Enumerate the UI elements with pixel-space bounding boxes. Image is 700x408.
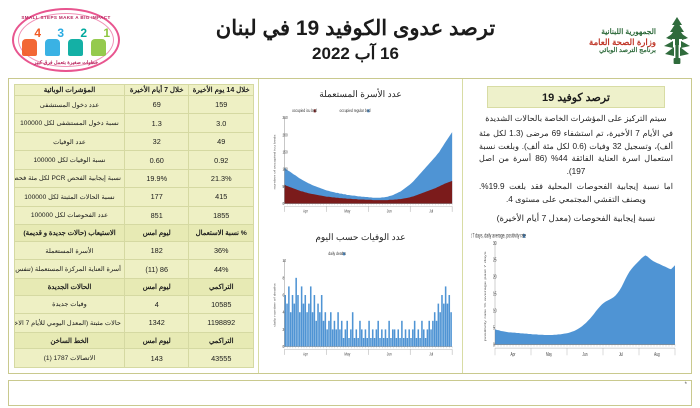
- cell-value-today: 86 (11): [124, 260, 189, 278]
- section-col-right: التراكمي: [189, 332, 254, 349]
- x-month-label: Jul: [429, 352, 433, 357]
- cell-indicator: حالات مثبتة (المعدل اليومي للأيام 7 الاخ…: [15, 314, 125, 332]
- table-row: 44%86 (11)أسرة العناية المركزة المستعملة…: [15, 260, 254, 278]
- positivity-chart-title: نسبة إيجابية الفحوصات (معدل 7 أيام الأخي…: [469, 213, 683, 224]
- x-month-label: Apr: [303, 209, 308, 214]
- deaths-bar: [335, 329, 337, 346]
- section-col-today: ليوم امس: [124, 225, 189, 242]
- y-tick-label: 6: [283, 293, 285, 298]
- deaths-bar: [427, 329, 429, 346]
- cell-value-right: 36%: [189, 241, 254, 259]
- deaths-bar: [399, 338, 401, 347]
- title-block: ترصد عدوى الكوفيد 19 في لبنان 16 آب 2022: [122, 16, 589, 64]
- deaths-bar: [292, 295, 294, 347]
- deaths-bar: [317, 304, 319, 347]
- campaign-slogan-ar: خطوات صغيرة بتعمل فرق كبير: [10, 60, 122, 66]
- y-tick-label: 25: [493, 257, 497, 263]
- deaths-bar: [430, 329, 432, 346]
- cell-indicator: عدد الفحوصات لكل 100000: [15, 206, 125, 224]
- summary-paragraph-1: سيتم التركيز على المؤشرات الخاصة بالحالا…: [469, 113, 683, 125]
- beds-chart: 050100150200250number of occupied icu be…: [261, 100, 460, 226]
- deaths-bar: [381, 329, 383, 346]
- cell-indicator: نسبة الحالات المثبتة لكل 100000: [15, 188, 125, 206]
- y-tick-label: 150: [283, 150, 288, 155]
- section-title: الخط الساخن: [15, 332, 125, 349]
- deaths-bar: [450, 312, 452, 346]
- table-row: 4932عدد الوفيات: [15, 132, 254, 150]
- lebanon-cedar-icon: [660, 14, 694, 66]
- deaths-bar: [377, 321, 379, 347]
- summary-paragraph-2: في الأيام 7 الأخيرة، تم استشفاء 69 مرضى …: [469, 128, 683, 178]
- deaths-bar: [441, 295, 443, 347]
- table-row: 36%182الأسرة المستعملة: [15, 241, 254, 259]
- x-month-label: Aug: [654, 351, 660, 357]
- cell-7days: 19.9%: [124, 169, 189, 187]
- legend-label: occupied regular bed: [340, 107, 371, 113]
- deaths-bar: [410, 338, 412, 347]
- deaths-bar: [326, 329, 328, 346]
- cell-14days: 415: [189, 188, 254, 206]
- deaths-bar: [397, 329, 399, 346]
- deaths-bar: [359, 321, 361, 347]
- deaths-bar: [390, 338, 392, 347]
- campaign-logo: SMALL STEPS MAKE A BIG IMPACT 1 2 3 4 خط…: [10, 4, 122, 76]
- table-row: 1855851عدد الفحوصات لكل 100000: [15, 206, 254, 224]
- cell-7days: 851: [124, 206, 189, 224]
- deaths-bar: [303, 304, 305, 347]
- deaths-bar: [366, 338, 368, 347]
- section-title: الحالات الجديدة: [15, 278, 125, 295]
- x-month-label: Jun: [582, 351, 587, 357]
- cell-value-right: 44%: [189, 260, 254, 278]
- deaths-bar: [376, 329, 378, 346]
- deaths-bar: [392, 329, 394, 346]
- y-tick-label: 15: [493, 291, 497, 297]
- section-title: الاستيعاب (حالات جديدة و قديمة): [15, 225, 125, 242]
- y-axis-title: daily number of deaths: [273, 283, 276, 327]
- deaths-bar: [306, 312, 308, 346]
- ministry-branding: الجمهورية اللبنانية وزارة الصحة العامة ب…: [589, 14, 694, 66]
- deaths-bar: [443, 304, 445, 347]
- table-row: 21.3%19.9%نسبة إيجابية الفحص PCR لكل مئة…: [15, 169, 254, 187]
- cell-value-today: 182: [124, 241, 189, 259]
- cell-value-right: 10585: [189, 295, 254, 313]
- cell-7days: 32: [124, 132, 189, 150]
- deaths-bar: [419, 338, 421, 347]
- deaths-bar: [445, 286, 447, 346]
- deaths-bar: [312, 312, 314, 346]
- deaths-bar: [374, 338, 376, 347]
- campaign-step: 1: [90, 28, 111, 56]
- deaths-bar: [405, 329, 407, 346]
- ministry-name: وزارة الصحة العامة: [589, 37, 656, 47]
- section-col-right: التراكمي: [189, 278, 254, 295]
- y-tick-label: 8: [283, 276, 285, 281]
- campaign-step-number: 3: [57, 27, 64, 39]
- table-section-header: % نسبة الاستعمالليوم امسالاستيعاب (حالات…: [15, 225, 254, 242]
- y-tick-label: 200: [283, 133, 288, 138]
- campaign-step-icon: [68, 39, 83, 56]
- cell-indicator: أسرة العناية المركزة المستعملة (تنفس اصط…: [15, 260, 125, 278]
- positivity-chart: 051015202530positivity rate % average pa…: [469, 225, 683, 370]
- deaths-bar: [323, 321, 325, 347]
- deaths-bar: [299, 312, 301, 346]
- x-month-label: Apr: [303, 352, 308, 357]
- table-row: 15969عدد دخول المستشفى: [15, 96, 254, 114]
- deaths-bar: [414, 321, 416, 347]
- deaths-bar: [438, 304, 440, 347]
- deaths-bar: [290, 312, 292, 346]
- beds-chart-title: عدد الأسرة المستعملة: [261, 89, 460, 100]
- cell-7days: 1.3: [124, 114, 189, 132]
- y-tick-label: 2: [283, 327, 285, 332]
- cell-value-right: 43555: [189, 349, 254, 368]
- deaths-bar: [428, 321, 430, 347]
- deaths-chart: 0246810daily number of deathsAprMayJunJu…: [261, 243, 460, 369]
- deaths-bar: [310, 286, 312, 346]
- deaths-bar: [356, 329, 358, 346]
- deaths-bar: [383, 338, 385, 347]
- deaths-bar: [434, 312, 436, 346]
- x-month-label: May: [546, 351, 553, 357]
- deaths-bar: [325, 312, 327, 346]
- deaths-bar: [341, 321, 343, 347]
- deaths-bar: [332, 329, 334, 346]
- cell-indicator: نسبة الوفيات لكل 100000: [15, 151, 125, 169]
- legend-label: daily deaths: [328, 250, 346, 256]
- cell-indicator: الاتصالات 1787 (1): [15, 349, 125, 368]
- deaths-bar: [388, 321, 390, 347]
- cell-indicator: نسبة دخول المستشفى لكل 100000: [15, 114, 125, 132]
- campaign-step-number: 4: [34, 27, 41, 39]
- x-month-label: Apr: [511, 351, 516, 357]
- deaths-bar: [368, 321, 370, 347]
- table-row: 105854وفيات جديدة: [15, 295, 254, 313]
- table-row: 0.920.60نسبة الوفيات لكل 100000: [15, 151, 254, 169]
- y-tick-label: 50: [283, 184, 286, 189]
- deaths-bar: [449, 295, 451, 347]
- x-month-label: Jul: [429, 209, 433, 214]
- deaths-bar: [361, 329, 363, 346]
- section-col-today: ليوم امس: [124, 332, 189, 349]
- table-row: 11988921342حالات مثبتة (المعدل اليومي لل…: [15, 314, 254, 332]
- deaths-bar: [432, 321, 434, 347]
- table-header-row: خلال 14 يوم الأخيرة خلال 7 أيام الأخيرة …: [15, 85, 254, 96]
- deaths-bar: [284, 295, 286, 347]
- footer-strip: *: [8, 380, 692, 406]
- deaths-bar: [301, 286, 303, 346]
- deaths-bar: [423, 329, 425, 346]
- deaths-bar: [363, 338, 365, 347]
- deaths-bar: [425, 338, 427, 347]
- deaths-chart-title: عدد الوفيات حسب اليوم: [261, 232, 460, 243]
- deaths-bar: [418, 329, 420, 346]
- campaign-step: 2: [67, 28, 88, 56]
- deaths-bar: [365, 329, 367, 346]
- deaths-bar: [328, 321, 330, 347]
- deaths-bar: [315, 321, 317, 347]
- cell-14days: 21.3%: [189, 169, 254, 187]
- campaign-step-number: 1: [103, 27, 110, 39]
- summary-panel-title: ترصد كوفيد 19: [487, 86, 665, 108]
- y-axis-title: positivity rate % average past 7 days: [483, 251, 486, 342]
- x-month-label: May: [344, 209, 350, 214]
- deaths-bar: [352, 312, 354, 346]
- deaths-bar: [407, 338, 409, 347]
- deaths-bar: [343, 338, 345, 347]
- deaths-bar: [346, 321, 348, 347]
- deaths-bar: [314, 295, 316, 347]
- cell-7days: 0.60: [124, 151, 189, 169]
- cell-value-today: 4: [124, 295, 189, 313]
- y-tick-label: 20: [493, 274, 497, 280]
- table-row: 43555143الاتصالات 1787 (1): [15, 349, 254, 368]
- deaths-bar: [416, 338, 418, 347]
- deaths-bar: [334, 321, 336, 347]
- deaths-bar: [394, 329, 396, 346]
- y-axis-title: number of occupied icu beds: [273, 134, 276, 189]
- deaths-bar: [337, 312, 339, 346]
- campaign-step-number: 2: [80, 27, 87, 39]
- campaign-step-icon: [22, 39, 37, 56]
- section-col-right: % نسبة الاستعمال: [189, 225, 254, 242]
- deaths-bar: [447, 304, 449, 347]
- deaths-bar: [385, 329, 387, 346]
- deaths-bar: [372, 329, 374, 346]
- deaths-bar: [412, 329, 414, 346]
- table-section-header: التراكميليوم امسالخط الساخن: [15, 332, 254, 349]
- campaign-step: 4: [21, 28, 42, 56]
- dashboard-board: ترصد كوفيد 19 سيتم التركيز على المؤشرات …: [8, 78, 692, 374]
- cell-14days: 49: [189, 132, 254, 150]
- campaign-step: 3: [44, 28, 65, 56]
- charts-panel: عدد الأسرة المستعملة 050100150200250numb…: [258, 79, 463, 373]
- page-header: الجمهورية اللبنانية وزارة الصحة العامة ب…: [0, 0, 700, 78]
- deaths-bar: [297, 295, 299, 347]
- cell-14days: 159: [189, 96, 254, 114]
- deaths-bar: [345, 329, 347, 346]
- positivity-area: [495, 256, 675, 345]
- deaths-bar: [350, 329, 352, 346]
- x-month-label: Jun: [387, 352, 392, 357]
- deaths-bar: [396, 338, 398, 347]
- y-tick-label: 10: [283, 259, 286, 264]
- ministry-program: برنامج الترصد الوبائي: [589, 47, 656, 55]
- deaths-bar: [348, 338, 350, 347]
- y-tick-label: 10: [493, 308, 497, 314]
- cell-7days: 69: [124, 96, 189, 114]
- deaths-bar: [387, 338, 389, 347]
- deaths-bar: [421, 321, 423, 347]
- indicators-table: خلال 14 يوم الأخيرة خلال 7 أيام الأخيرة …: [14, 84, 254, 368]
- y-tick-label: 0: [283, 202, 285, 207]
- ministry-country: الجمهورية اللبنانية: [589, 28, 656, 37]
- footer-marker: *: [685, 382, 687, 388]
- cell-indicator: الأسرة المستعملة: [15, 241, 125, 259]
- cell-14days: 0.92: [189, 151, 254, 169]
- table-row: 415177نسبة الحالات المثبتة لكل 100000: [15, 188, 254, 206]
- deaths-bar: [370, 338, 372, 347]
- deaths-bar: [295, 278, 297, 347]
- summary-panel: ترصد كوفيد 19 سيتم التركيز على المؤشرات …: [463, 79, 691, 373]
- x-month-label: Jul: [619, 351, 623, 357]
- y-tick-label: 100: [283, 167, 288, 172]
- header-7days: خلال 7 أيام الأخيرة: [124, 85, 189, 96]
- cell-value-right: 1198892: [189, 314, 254, 332]
- deaths-bar: [339, 329, 341, 346]
- table-row: 3.01.3نسبة دخول المستشفى لكل 100000: [15, 114, 254, 132]
- deaths-bar: [321, 295, 323, 347]
- cell-indicator: وفيات جديدة: [15, 295, 125, 313]
- indicators-panel: خلال 14 يوم الأخيرة خلال 7 أيام الأخيرة …: [9, 79, 258, 373]
- cell-indicator: نسبة إيجابية الفحص PCR لكل مئة فحص: [15, 169, 125, 187]
- cell-14days: 1855: [189, 206, 254, 224]
- x-month-label: Jun: [387, 209, 392, 214]
- deaths-bar: [439, 312, 441, 346]
- x-month-label: May: [344, 352, 350, 357]
- deaths-bar: [330, 312, 332, 346]
- y-tick-label: 250: [283, 116, 288, 121]
- cell-value-today: 143: [124, 349, 189, 368]
- deaths-bar: [403, 338, 405, 347]
- y-tick-label: 0: [283, 345, 285, 350]
- deaths-bar: [436, 321, 438, 347]
- deaths-bar: [319, 312, 321, 346]
- deaths-bar: [408, 329, 410, 346]
- report-date: 16 آب 2022: [126, 44, 585, 64]
- deaths-bar: [286, 304, 288, 347]
- deaths-bar: [288, 286, 290, 346]
- cell-14days: 3.0: [189, 114, 254, 132]
- y-tick-label: 30: [493, 240, 497, 246]
- header-14days: خلال 14 يوم الأخيرة: [189, 85, 254, 96]
- header-indicator: المؤشرات الوبائية: [15, 85, 125, 96]
- section-col-today: ليوم امس: [124, 278, 189, 295]
- deaths-bar: [357, 338, 359, 347]
- page-title: ترصد عدوى الكوفيد 19 في لبنان: [126, 16, 585, 42]
- deaths-bar: [379, 338, 381, 347]
- cell-7days: 177: [124, 188, 189, 206]
- campaign-step-icon: [91, 39, 106, 56]
- y-tick-label: 0: [493, 342, 495, 348]
- campaign-steps: 1 2 3 4: [21, 26, 111, 56]
- legend-label: occupied icu bed: [292, 107, 317, 113]
- deaths-bar: [305, 295, 307, 347]
- campaign-slogan-en: SMALL STEPS MAKE A BIG IMPACT: [10, 15, 122, 20]
- cell-indicator: عدد الوفيات: [15, 132, 125, 150]
- cell-value-today: 1342: [124, 314, 189, 332]
- deaths-bar: [354, 338, 356, 347]
- deaths-bar: [401, 321, 403, 347]
- table-section-header: التراكميليوم امسالحالات الجديدة: [15, 278, 254, 295]
- legend-label: Past 7 days, daily average, positivity r…: [471, 233, 526, 240]
- summary-paragraph-3: اما نسبة إيجابية الفحوصات المحلية فقد بل…: [469, 181, 683, 206]
- cell-indicator: عدد دخول المستشفى: [15, 96, 125, 114]
- y-tick-label: 5: [493, 325, 495, 331]
- deaths-bar: [294, 304, 296, 347]
- campaign-step-icon: [45, 39, 60, 56]
- deaths-bar: [308, 304, 310, 347]
